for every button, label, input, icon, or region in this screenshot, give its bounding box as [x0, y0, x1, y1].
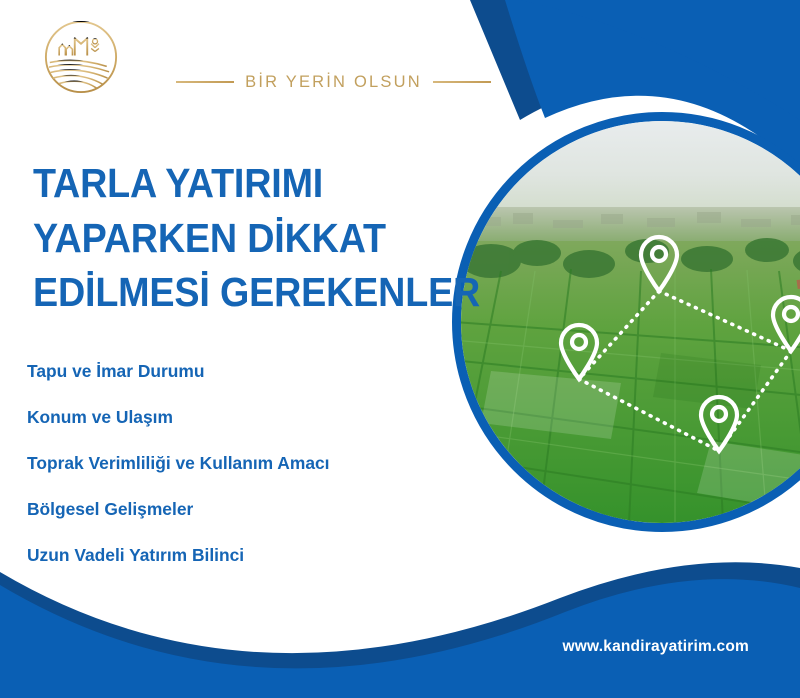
- brand-text-block: KANDIRAYATIRIM BİR YERİN OLSUN: [138, 22, 529, 91]
- headline-line-2: YAPARKEN DİKKAT: [33, 211, 429, 266]
- list-item: Bölgesel Gelişmeler: [27, 501, 447, 518]
- brand-logo: KANDIRAYATIRIM BİR YERİN OLSUN: [42, 18, 529, 96]
- brand-tagline-row: BİR YERİN OLSUN: [138, 73, 529, 92]
- list-item: Tapu ve İmar Durumu: [27, 363, 447, 380]
- aerial-photo-circle: [452, 112, 800, 532]
- page-title: TARLA YATIRIMI YAPARKEN DİKKAT EDİLMESİ …: [33, 156, 463, 320]
- list-item: Uzun Vadeli Yatırım Bilinci: [27, 547, 447, 564]
- headline-line-1: TARLA YATIRIMI: [33, 156, 429, 211]
- photo-clip-mask: [461, 121, 800, 523]
- feature-list: Tapu ve İmar Durumu Konum ve Ulaşım Topr…: [27, 363, 447, 593]
- headline-line-3: EDİLMESİ GEREKENLER: [33, 265, 429, 320]
- brand-name: KANDIRAYATIRIM: [138, 22, 529, 67]
- tagline-rule-left: [176, 81, 234, 83]
- aerial-farmland-photo: [461, 121, 800, 523]
- farm-field-circle-emblem: [42, 18, 120, 96]
- list-item: Toprak Verimliliği ve Kullanım Amacı: [27, 455, 447, 472]
- website-url[interactable]: www.kandirayatirim.com: [563, 638, 749, 656]
- poster-canvas: KANDIRAYATIRIM BİR YERİN OLSUN: [0, 0, 800, 698]
- tagline-rule-right: [433, 81, 491, 83]
- brand-tagline: BİR YERİN OLSUN: [245, 73, 422, 92]
- list-item: Konum ve Ulaşım: [27, 409, 447, 426]
